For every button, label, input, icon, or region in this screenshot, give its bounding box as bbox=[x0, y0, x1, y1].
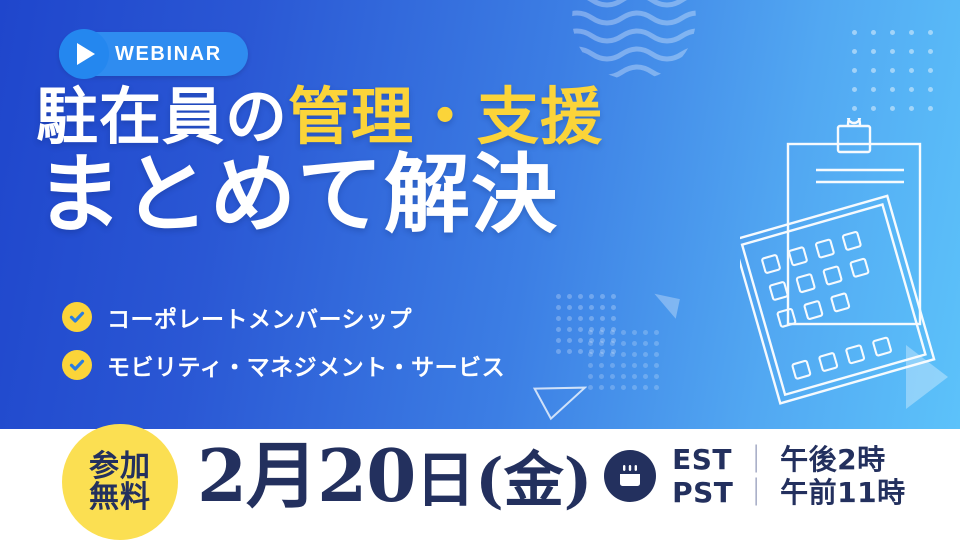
timezone-label-est: EST bbox=[672, 443, 738, 476]
triangle-filled-decoration bbox=[646, 294, 680, 339]
list-item-label: コーポレートメンバーシップ bbox=[107, 300, 412, 334]
timezone-row-est: EST ｜ 午後2時 bbox=[672, 443, 905, 476]
timezone-row-pst: PST ｜ 午前11時 bbox=[672, 476, 905, 509]
webinar-badge-label: WEBINAR bbox=[115, 43, 222, 66]
list-item: モビリティ・マネジメント・サービス bbox=[62, 348, 505, 382]
timezone-list: EST ｜ 午後2時 PST ｜ 午前11時 bbox=[672, 443, 905, 509]
event-date-month: 2月 bbox=[197, 433, 317, 518]
headline-line-1-white: 駐在員の bbox=[36, 80, 288, 153]
triangle-outline-decoration bbox=[531, 371, 591, 422]
webinar-banner: WEBINAR 駐在員の管理・支援 まとめて解決 コーポレートメンバーシップ bbox=[0, 0, 960, 540]
list-item-label: モビリティ・マネジメント・サービス bbox=[107, 348, 505, 382]
dot-grid-middle-lower-decoration bbox=[588, 330, 664, 392]
free-admission-badge: 参加 無料 bbox=[62, 424, 178, 540]
event-datetime: 2月20日(金) EST ｜ 午後2時 PST ｜ 午前11時 bbox=[197, 440, 906, 512]
free-badge-line-2: 無料 bbox=[89, 482, 151, 514]
timezone-value-est: 午後2時 bbox=[780, 443, 885, 476]
check-icon bbox=[62, 302, 92, 332]
feature-list: コーポレートメンバーシップ モビリティ・マネジメント・サービス bbox=[62, 300, 505, 396]
dot-grid-top-right-decoration bbox=[852, 30, 942, 120]
timezone-label-pst: PST bbox=[672, 476, 738, 509]
timezone-separator: ｜ bbox=[742, 443, 770, 476]
event-date-day-unit: 日 bbox=[415, 446, 475, 516]
webinar-pill[interactable]: WEBINAR bbox=[59, 32, 248, 76]
calendar-icon bbox=[604, 450, 656, 502]
page-title: 駐在員の管理・支援 まとめて解決 bbox=[36, 88, 603, 237]
headline-line-1: 駐在員の管理・支援 bbox=[36, 88, 603, 147]
event-date-weekday: (金) bbox=[475, 446, 592, 516]
event-date-day: 20 bbox=[317, 433, 415, 518]
play-icon bbox=[59, 29, 109, 79]
free-badge-line-1: 参加 bbox=[89, 451, 151, 483]
check-icon bbox=[62, 350, 92, 380]
timezone-value-pst: 午前11時 bbox=[780, 476, 905, 509]
wave-circle-decoration bbox=[572, 0, 696, 80]
headline-line-1-accent: 管理・支援 bbox=[288, 80, 603, 153]
list-item: コーポレートメンバーシップ bbox=[62, 300, 505, 334]
event-date: 2月20日(金) bbox=[197, 440, 592, 512]
webinar-badge[interactable]: WEBINAR bbox=[59, 32, 248, 76]
hero-panel: WEBINAR 駐在員の管理・支援 まとめて解決 コーポレートメンバーシップ bbox=[0, 0, 960, 429]
timezone-separator: ｜ bbox=[742, 476, 770, 509]
headline-line-2: まとめて解決 bbox=[36, 155, 603, 237]
clipboard-calendar-illustration bbox=[740, 118, 940, 413]
